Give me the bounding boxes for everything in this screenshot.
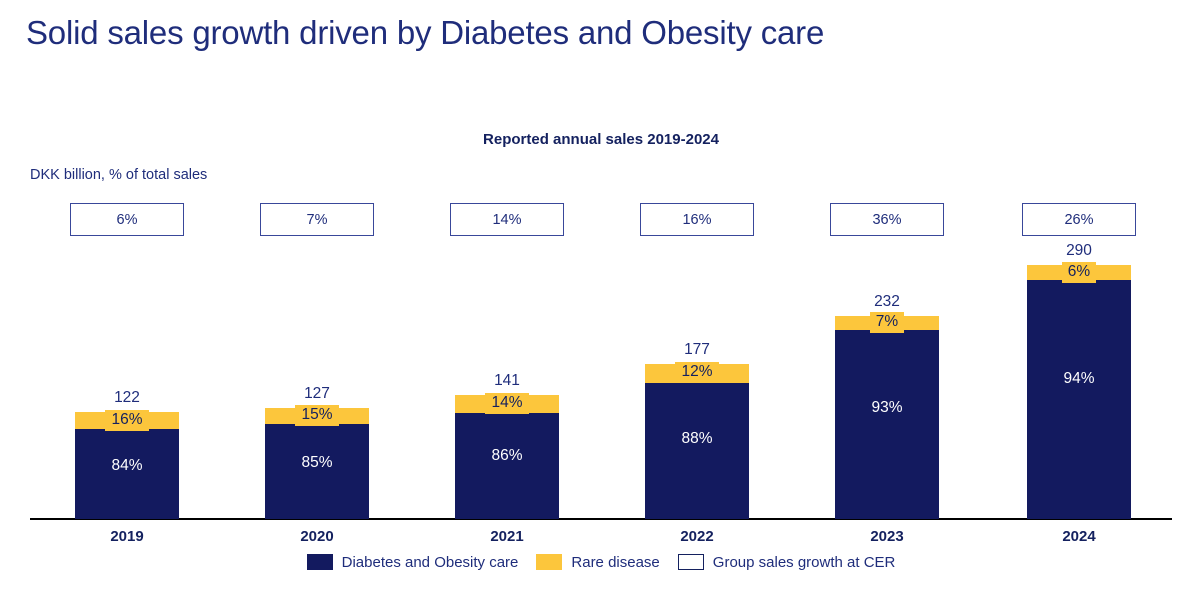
bar-group-2021[interactable]: 14%86%1412021 xyxy=(455,395,559,519)
bar-total-label-2024: 290 xyxy=(1027,242,1131,260)
bar-label-rare-disease-pct-2022: 12% xyxy=(645,362,749,383)
bar-label-rare-disease-pct-text: 14% xyxy=(485,393,528,414)
legend-label: Rare disease xyxy=(571,554,659,571)
bar-segment-diabetes-obesity-2024[interactable] xyxy=(1027,280,1131,519)
bar-label-rare-disease-pct-text: 7% xyxy=(870,312,904,333)
bar-label-rare-disease-pct-text: 16% xyxy=(105,410,148,431)
bar-label-rare-disease-pct-text: 15% xyxy=(295,405,338,426)
bar-label-rare-disease-pct-2021: 14% xyxy=(455,393,559,414)
legend-item-2[interactable]: Rare disease xyxy=(536,554,659,571)
bar-label-rare-disease-pct-2024: 6% xyxy=(1027,262,1131,283)
bar-label-rare-disease-pct-text: 12% xyxy=(675,362,718,383)
bar-segment-diabetes-obesity-2021[interactable] xyxy=(455,413,559,519)
legend-item-3[interactable]: Group sales growth at CER xyxy=(678,554,896,571)
chart-page: Solid sales growth driven by Diabetes an… xyxy=(0,0,1202,593)
x-axis-tick-2020: 2020 xyxy=(265,528,369,545)
x-axis-line xyxy=(30,518,1172,520)
bar-label-rare-disease-pct-2020: 15% xyxy=(265,405,369,426)
legend-label: Group sales growth at CER xyxy=(713,554,896,571)
legend-item-1[interactable]: Diabetes and Obesity care xyxy=(307,554,519,571)
plot-area: 16%84%122201915%85%127202014%86%14120211… xyxy=(0,0,1202,593)
bar-total-label-2020: 127 xyxy=(265,385,369,403)
bar-group-2022[interactable]: 12%88%1772022 xyxy=(645,364,749,519)
x-axis-tick-2023: 2023 xyxy=(835,528,939,545)
bar-label-rare-disease-pct-text: 6% xyxy=(1062,262,1096,283)
bar-total-label-2021: 141 xyxy=(455,372,559,390)
bar-segment-diabetes-obesity-2023[interactable] xyxy=(835,330,939,519)
bar-total-label-2022: 177 xyxy=(645,341,749,359)
x-axis-tick-2021: 2021 xyxy=(455,528,559,545)
legend-label: Diabetes and Obesity care xyxy=(342,554,519,571)
bar-group-2019[interactable]: 16%84%1222019 xyxy=(75,412,179,519)
bar-label-diabetes-obesity-pct-2022: 88% xyxy=(645,430,749,448)
bar-label-diabetes-obesity-pct-2024: 94% xyxy=(1027,370,1131,388)
bar-label-rare-disease-pct-2023: 7% xyxy=(835,312,939,333)
bar-group-2020[interactable]: 15%85%1272020 xyxy=(265,408,369,519)
bar-group-2024[interactable]: 6%94%2902024 xyxy=(1027,265,1131,519)
chart-legend: Diabetes and Obesity careRare diseaseGro… xyxy=(0,550,1202,574)
bar-label-diabetes-obesity-pct-2021: 86% xyxy=(455,447,559,465)
legend-swatch-yellow-icon xyxy=(536,554,562,570)
bar-segment-diabetes-obesity-2022[interactable] xyxy=(645,383,749,519)
bar-label-diabetes-obesity-pct-2023: 93% xyxy=(835,399,939,417)
bar-group-2023[interactable]: 7%93%2322023 xyxy=(835,316,939,519)
bar-label-diabetes-obesity-pct-2020: 85% xyxy=(265,454,369,472)
x-axis-tick-2019: 2019 xyxy=(75,528,179,545)
legend-swatch-outline-icon xyxy=(678,554,704,570)
legend-swatch-navy-icon xyxy=(307,554,333,570)
x-axis-tick-2022: 2022 xyxy=(645,528,749,545)
bar-total-label-2023: 232 xyxy=(835,293,939,311)
bar-total-label-2019: 122 xyxy=(75,389,179,407)
x-axis-tick-2024: 2024 xyxy=(1027,528,1131,545)
bar-label-rare-disease-pct-2019: 16% xyxy=(75,410,179,431)
bar-label-diabetes-obesity-pct-2019: 84% xyxy=(75,457,179,475)
